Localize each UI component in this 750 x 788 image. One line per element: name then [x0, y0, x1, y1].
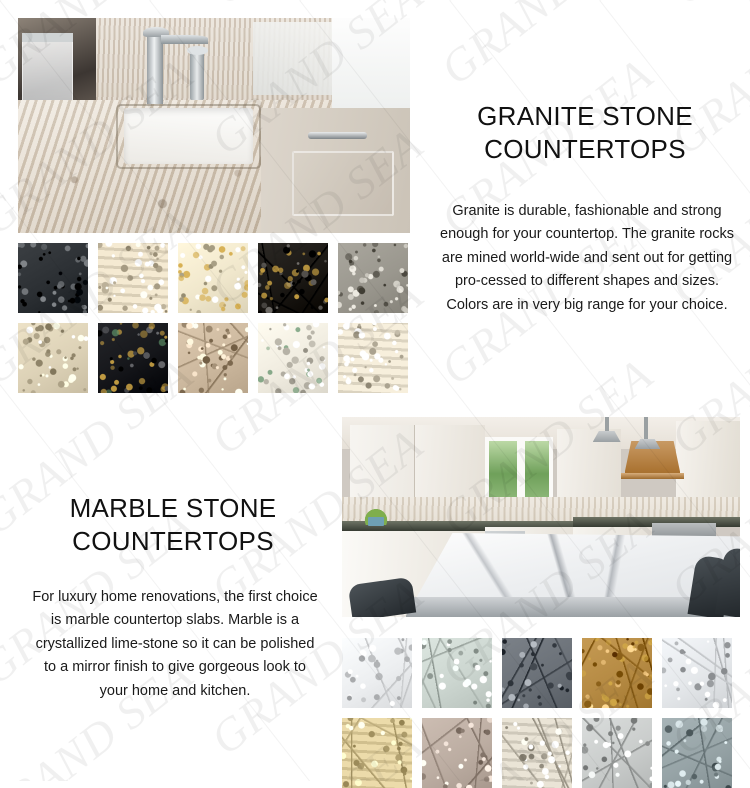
window-mullion [517, 437, 525, 505]
granite-heading: GRANITE STONE COUNTERTOPS [430, 100, 740, 167]
watermark-hairline [0, 0, 528, 1]
watermark-text: GRAND SEA [201, 0, 433, 15]
swatch-white-gray-vein-marble[interactable] [662, 638, 732, 708]
swatch-cream-travertine-granite[interactable] [98, 243, 168, 313]
swatch-brown-blush-marble[interactable] [422, 718, 492, 788]
faucet-side-handle [190, 52, 204, 99]
swatch-dark-charcoal-granite[interactable] [18, 243, 88, 313]
range-hood-band [621, 473, 685, 479]
marble-swatch-grid [342, 638, 732, 788]
watermark-text: GRAND SEA [431, 0, 663, 95]
swatch-golden-brown-marble[interactable] [582, 638, 652, 708]
watermark-hairline [150, 0, 750, 1]
swatch-beige-brown-fleck-granite[interactable] [18, 323, 88, 393]
swatch-black-multicolor-fleck-granite[interactable] [98, 323, 168, 393]
swatch-ivory-confetti-granite[interactable] [258, 323, 328, 393]
mirror [253, 22, 339, 95]
swatch-black-gold-vein-granite[interactable] [258, 243, 328, 313]
undermount-sink [124, 108, 253, 164]
glass-jar [22, 35, 73, 108]
watermark-hairline [600, 0, 750, 1]
jar-lid [22, 33, 73, 42]
marble-description: For luxury home renovations, the first c… [30, 586, 320, 703]
faucet-side-handle-top [187, 46, 209, 55]
swatch-gray-speckled-granite[interactable] [338, 243, 408, 313]
swatch-cream-banded-marble[interactable] [502, 718, 572, 788]
granite-swatch-grid [18, 243, 408, 393]
marble-heading: MARBLE STONE COUNTERTOPS [18, 492, 328, 559]
plant-pot [368, 517, 384, 526]
swatch-dark-gray-marble[interactable] [502, 638, 572, 708]
swatch-beige-sand-marble[interactable] [342, 718, 412, 788]
swatch-blue-gray-marble[interactable] [662, 718, 732, 788]
upper-cabinet-far-right [676, 421, 740, 501]
watermark-hairline [0, 0, 378, 1]
watermark-text: GRAND SEA [661, 0, 750, 15]
swatch-white-marble[interactable] [342, 638, 412, 708]
swatch-brown-vein-granite[interactable] [178, 323, 248, 393]
swatch-pale-green-marble[interactable] [422, 638, 492, 708]
faucet-spout [161, 35, 208, 44]
swatch-sand-speckled-granite[interactable] [338, 323, 408, 393]
cabinet-handle [308, 132, 367, 140]
upper-cabinet-left-2 [414, 425, 486, 501]
watermark-hairline [450, 0, 750, 1]
cabinet-panel [292, 151, 394, 216]
marble-kitchen-photo [342, 417, 740, 617]
swatch-gray-white-marble[interactable] [582, 718, 652, 788]
swatch-yellow-speckled-granite[interactable] [178, 243, 248, 313]
window [332, 18, 410, 108]
granite-kitchen-photo [18, 18, 410, 233]
granite-description: Granite is durable, fashionable and stro… [438, 200, 736, 317]
watermark-hairline [300, 0, 750, 1]
watermark-hairline [0, 0, 678, 1]
